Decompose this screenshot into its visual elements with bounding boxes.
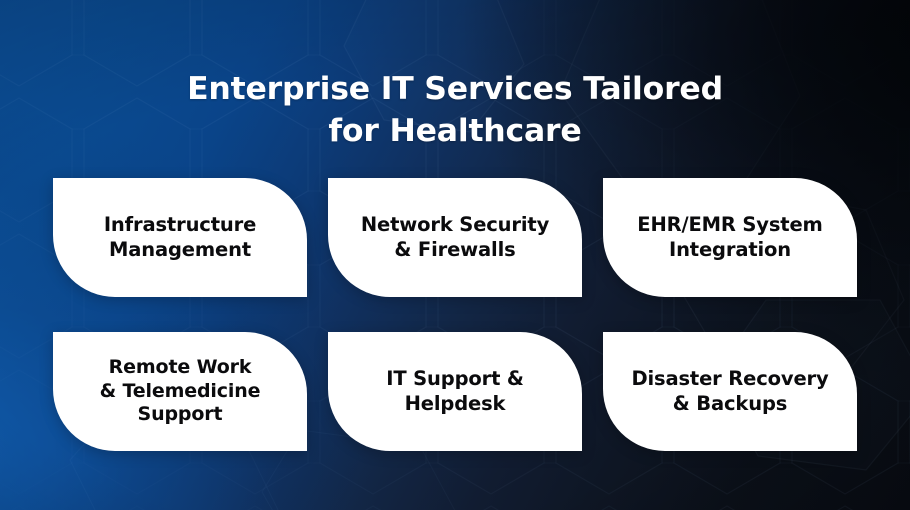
service-card-remote-work-telemedicine-support[interactable]: Remote Work & Telemedicine Support (53, 332, 307, 451)
service-card-row-2: Remote Work & Telemedicine Support IT Su… (53, 332, 857, 451)
service-card-label: Disaster Recovery & Backups (631, 367, 828, 416)
service-card-it-support-helpdesk[interactable]: IT Support & Helpdesk (328, 332, 582, 451)
service-card-label: EHR/EMR System Integration (637, 213, 822, 262)
service-card-row-1: Infrastructure Management Network Securi… (53, 178, 857, 297)
page-title: Enterprise IT Services Tailored for Heal… (0, 69, 910, 152)
service-card-label: Network Security & Firewalls (361, 213, 549, 262)
page-title-line-1: Enterprise IT Services Tailored (60, 69, 850, 111)
service-card-infrastructure-management[interactable]: Infrastructure Management (53, 178, 307, 297)
slide-canvas: Enterprise IT Services Tailored for Heal… (0, 0, 910, 510)
page-title-line-2: for Healthcare (60, 111, 850, 153)
slide-content: Enterprise IT Services Tailored for Heal… (0, 0, 910, 510)
service-card-label: Remote Work & Telemedicine Support (100, 356, 261, 427)
service-card-ehr-emr-system-integration[interactable]: EHR/EMR System Integration (603, 178, 857, 297)
service-card-label: IT Support & Helpdesk (386, 367, 524, 416)
service-card-network-security-firewalls[interactable]: Network Security & Firewalls (328, 178, 582, 297)
service-card-disaster-recovery-backups[interactable]: Disaster Recovery & Backups (603, 332, 857, 451)
service-card-label: Infrastructure Management (104, 213, 256, 262)
service-card-grid: Infrastructure Management Network Securi… (53, 178, 857, 451)
